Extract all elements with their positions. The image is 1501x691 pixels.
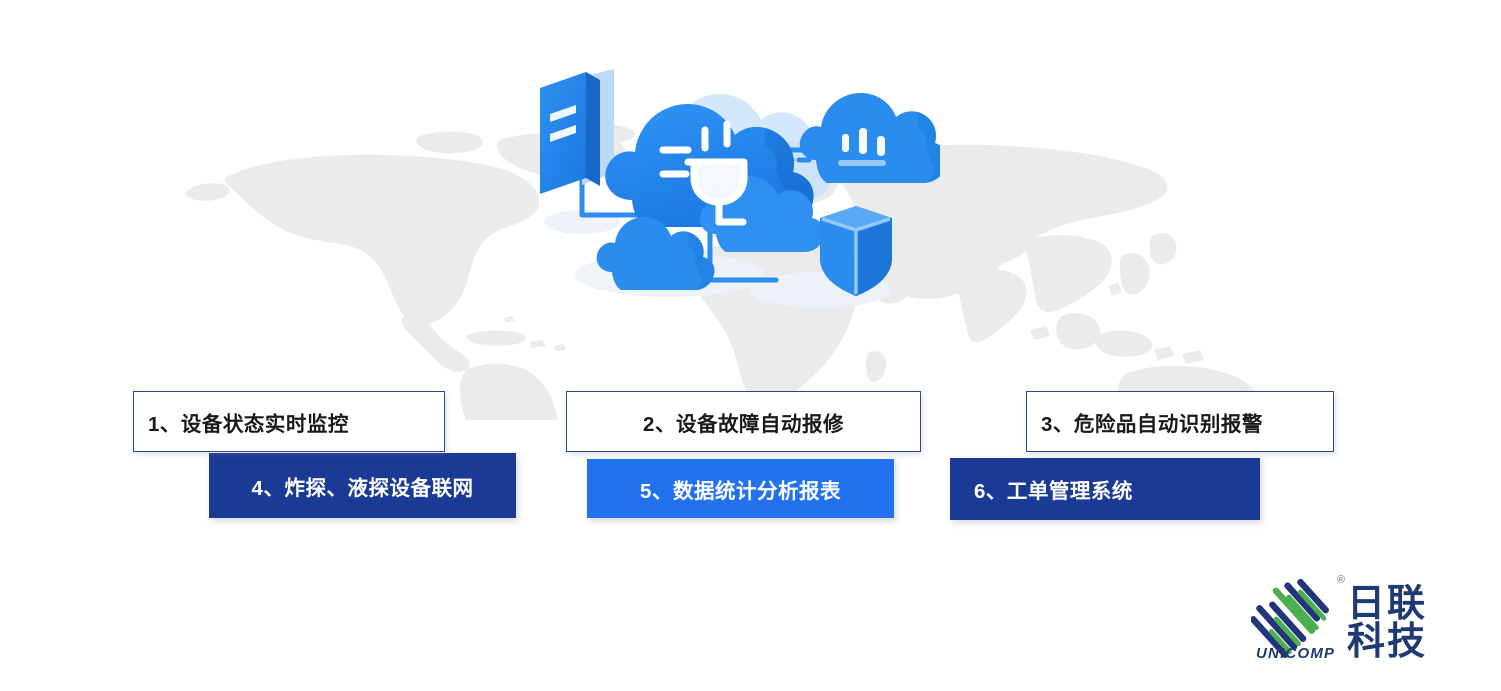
company-logo: ® UNICOMP 日联科技 <box>1251 572 1456 664</box>
chart-cloud-icon <box>800 93 940 183</box>
feature-box-2[interactable]: 2、设备故障自动报修 <box>566 391 921 452</box>
slide-canvas: 1、设备状态实时监控 2、设备故障自动报修 3、危险品自动识别报警 4、炸探、液… <box>0 0 1501 691</box>
document-panel-icon <box>540 69 614 194</box>
unicomp-logo-mark: ® UNICOMP <box>1251 572 1343 664</box>
feature-label-2: 2、设备故障自动报修 <box>643 407 844 437</box>
feature-label-6: 6、工单管理系统 <box>974 474 1133 504</box>
logo-text-block: 日联科技 <box>1347 584 1456 660</box>
feature-label-4: 4、炸探、液探设备联网 <box>252 471 474 501</box>
registered-trademark-icon: ® <box>1337 574 1345 586</box>
feature-box-3[interactable]: 3、危险品自动识别报警 <box>1026 391 1334 452</box>
feature-box-5[interactable]: 5、数据统计分析报表 <box>587 459 894 518</box>
logo-company-en: UNICOMP <box>1256 645 1335 662</box>
cloud-network-illustration <box>520 50 940 320</box>
feature-label-5: 5、数据统计分析报表 <box>640 474 841 504</box>
feature-box-4[interactable]: 4、炸探、液探设备联网 <box>209 453 516 518</box>
feature-label-3: 3、危险品自动识别报警 <box>1041 407 1263 437</box>
logo-company-cn: 日联科技 <box>1347 584 1456 660</box>
feature-box-6[interactable]: 6、工单管理系统 <box>950 458 1260 520</box>
feature-box-1[interactable]: 1、设备状态实时监控 <box>133 391 445 452</box>
feature-label-1: 1、设备状态实时监控 <box>148 407 349 437</box>
